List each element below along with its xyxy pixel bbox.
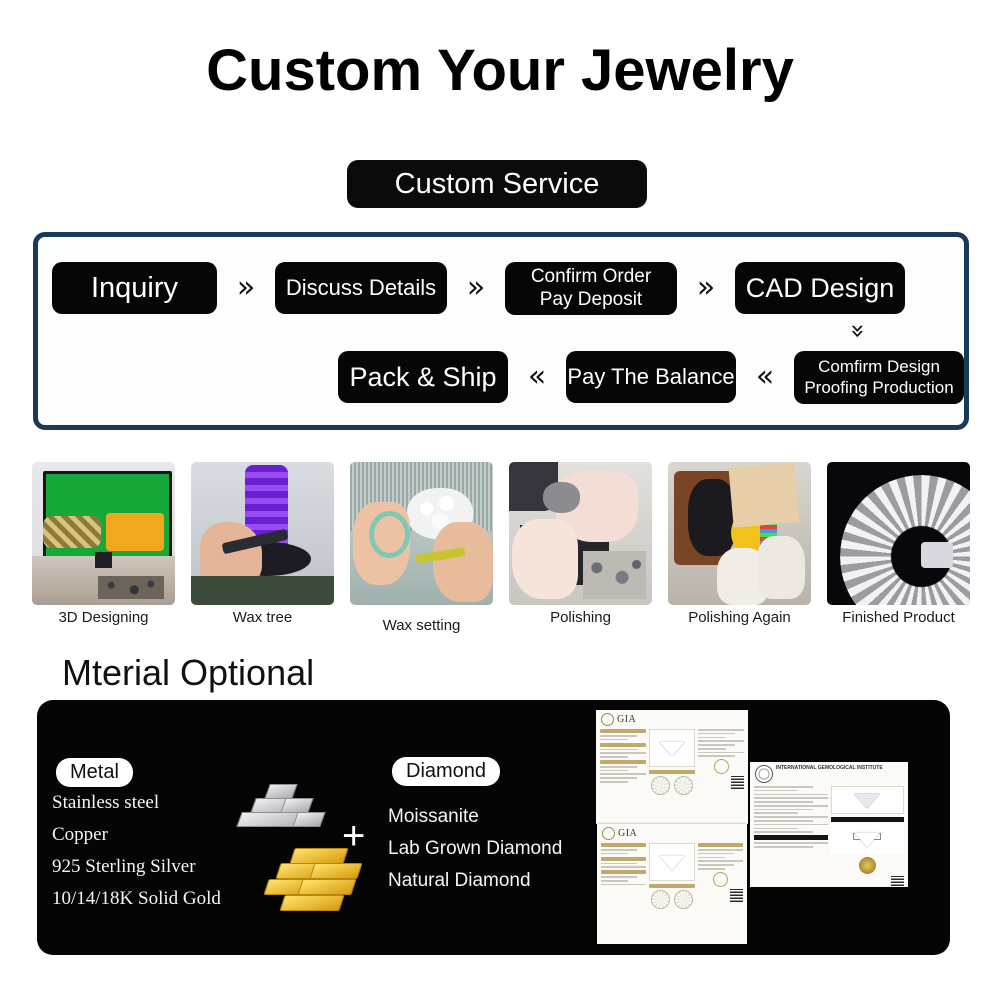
metal-option: 925 Sterling Silver	[52, 856, 312, 878]
gallery-thumbnail-3d-designing	[32, 462, 175, 605]
certificate-igi-header: INTERNATIONAL GEMOLOGICAL INSTITUTE	[750, 762, 908, 786]
metal-option: 10/14/18K Solid Gold	[52, 888, 312, 910]
gallery-thumbnail-polishing-again	[668, 462, 811, 605]
flow-step-discuss-details-label: Discuss Details	[286, 275, 436, 301]
certificate-gia-bottom[interactable]: GIA	[597, 824, 747, 944]
metal-tag: Metal	[56, 758, 133, 787]
diamond-option: Lab Grown Diamond	[388, 838, 618, 860]
gallery-caption-3d-designing: 3D Designing	[32, 609, 175, 626]
gallery-thumbnail-wax-tree	[191, 462, 334, 605]
certificate-igi-label: INTERNATIONAL GEMOLOGICAL INSTITUTE	[776, 765, 883, 772]
qr-code-icon	[730, 889, 743, 902]
flow-step-pack-ship-label: Pack & Ship	[349, 362, 496, 393]
certificate-gia-bottom-label: GIA	[618, 828, 637, 839]
gallery-thumbnail-finished-product	[827, 462, 970, 605]
metal-tag-label: Metal	[70, 761, 119, 783]
certificate-seal-icon	[859, 857, 876, 874]
gallery-item-wax-setting[interactable]: Wax setting	[350, 462, 493, 605]
metal-option: Copper	[52, 824, 312, 846]
page-title: Custom Your Jewelry	[0, 42, 1000, 100]
custom-service-badge: Custom Service	[347, 160, 647, 208]
certificate-gia-top[interactable]: GIA	[596, 710, 748, 824]
gia-logo-icon	[601, 713, 614, 726]
custom-service-label: Custom Service	[395, 168, 600, 201]
flow-step-discuss-details[interactable]: Discuss Details	[275, 262, 447, 314]
diamond-tag: Diamond	[392, 757, 500, 786]
metal-option: Stainless steel	[52, 792, 312, 814]
diamond-tag-label: Diamond	[406, 760, 486, 782]
gallery-caption-polishing-again: Polishing Again	[668, 609, 811, 626]
certificate-gia-top-header: GIA	[596, 710, 748, 729]
gallery-item-3d-designing[interactable]: 3D Designing	[32, 462, 175, 605]
certificate-gia-top-body	[596, 729, 748, 795]
gallery-thumbnail-wax-setting	[350, 462, 493, 605]
flow-step-confirm-design[interactable]: Comfirm Design Proofing Production	[794, 351, 964, 404]
flow-step-pay-balance-label: Pay The Balance	[567, 364, 734, 390]
flow-step-confirm-order[interactable]: Confirm Order Pay Deposit	[505, 262, 677, 315]
chevron-right-icon-3: »	[677, 273, 735, 303]
process-flow-container: Inquiry » Discuss Details » Confirm Orde…	[33, 232, 969, 430]
diamond-option: Natural Diamond	[388, 870, 618, 892]
material-section-heading: Mterial Optional	[62, 652, 314, 694]
gallery-item-polishing-again[interactable]: Polishing Again	[668, 462, 811, 605]
flow-step-inquiry[interactable]: Inquiry	[52, 262, 217, 314]
certificate-gia-bottom-header: GIA	[597, 824, 747, 843]
flow-step-cad-design[interactable]: CAD Design	[735, 262, 905, 314]
chevron-down-icon: »	[846, 298, 872, 364]
gallery-item-polishing[interactable]: Polishing	[509, 462, 652, 605]
qr-code-icon	[891, 876, 904, 887]
certificate-igi[interactable]: INTERNATIONAL GEMOLOGICAL INSTITUTE	[750, 762, 908, 887]
diamond-option: Moissanite	[388, 806, 618, 828]
igi-logo-icon	[755, 765, 773, 783]
qr-code-icon	[731, 776, 744, 789]
chevron-right-icon-2: »	[447, 273, 505, 303]
flow-step-confirm-order-line1: Confirm Order	[531, 265, 651, 288]
chevron-left-icon-1: «	[508, 362, 566, 392]
flow-step-pack-ship[interactable]: Pack & Ship	[338, 351, 508, 403]
gallery-caption-wax-setting: Wax setting	[350, 617, 493, 634]
process-gallery: 3D Designing Wax tree Wax setting Polish…	[32, 462, 972, 637]
process-flow-bottom-row: Pack & Ship « Pay The Balance « Comfirm …	[38, 349, 980, 405]
certificate-gia-bottom-body	[597, 843, 747, 909]
gallery-item-finished-product[interactable]: Finished Product	[827, 462, 970, 605]
flow-step-confirm-design-line2: Proofing Production	[804, 377, 953, 398]
chevron-left-icon-2: «	[736, 362, 794, 392]
process-flow-top-row: Inquiry » Discuss Details » Confirm Orde…	[38, 260, 978, 316]
certificate-igi-body	[750, 786, 908, 887]
gallery-caption-wax-tree: Wax tree	[191, 609, 334, 626]
gallery-item-wax-tree[interactable]: Wax tree	[191, 462, 334, 605]
certificate-gia-top-label: GIA	[617, 714, 636, 725]
flow-step-pay-balance[interactable]: Pay The Balance	[566, 351, 736, 403]
flow-step-confirm-design-line1: Comfirm Design	[818, 356, 940, 377]
gallery-caption-polishing: Polishing	[509, 609, 652, 626]
flow-step-inquiry-label: Inquiry	[91, 272, 178, 305]
chevron-right-icon-1: »	[217, 273, 275, 303]
metal-options-list: Stainless steel Copper 925 Sterling Silv…	[52, 792, 312, 920]
flow-step-confirm-order-line2: Pay Deposit	[540, 288, 642, 311]
diamond-options-list: Moissanite Lab Grown Diamond Natural Dia…	[388, 806, 618, 902]
gallery-thumbnail-polishing	[509, 462, 652, 605]
plus-icon: +	[342, 816, 365, 856]
gallery-caption-finished-product: Finished Product	[827, 609, 970, 626]
